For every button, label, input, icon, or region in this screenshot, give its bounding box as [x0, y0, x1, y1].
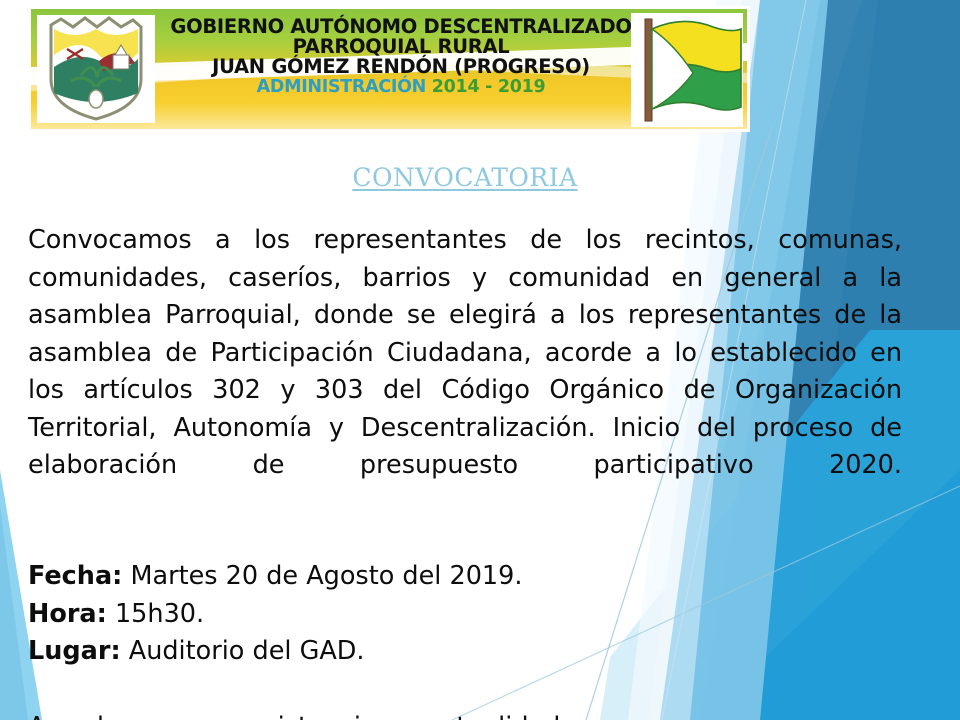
event-details: Fecha: Martes 20 de Agosto del 2019. Hor… — [28, 558, 902, 671]
page-title: CONVOCATORIA — [0, 163, 930, 192]
detail-value-hora: 15h30. — [115, 599, 204, 629]
detail-label-lugar: Lugar: — [28, 636, 121, 666]
banner-line-2: PARROQUIAL RURAL — [159, 37, 643, 57]
detail-label-hora: Hora: — [28, 599, 107, 629]
slide-canvas: GOBIERNO AUTÓNOMO DESCENTRALIZADO PARROQ… — [0, 0, 960, 720]
administration-years: 2014 - 2019 — [426, 77, 545, 97]
header-banner: GOBIERNO AUTÓNOMO DESCENTRALIZADO PARROQ… — [28, 6, 750, 132]
detail-label-fecha: Fecha: — [28, 561, 122, 591]
banner-line-1: GOBIERNO AUTÓNOMO DESCENTRALIZADO — [159, 17, 643, 37]
convocation-paragraph: Convocamos a los representantes de los r… — [28, 222, 902, 522]
banner-text-block: GOBIERNO AUTÓNOMO DESCENTRALIZADO PARROQ… — [159, 17, 643, 96]
detail-row-hora: Hora: 15h30. — [28, 596, 902, 634]
detail-value-lugar: Auditorio del GAD. — [129, 636, 365, 666]
detail-value-fecha: Martes 20 de Agosto del 2019. — [130, 561, 522, 591]
parish-flag-icon — [631, 13, 743, 127]
detail-row-lugar: Lugar: Auditorio del GAD. — [28, 633, 902, 671]
detail-row-fecha: Fecha: Martes 20 de Agosto del 2019. — [28, 558, 902, 596]
administration-word: ADMINISTRACIÓN — [257, 77, 426, 97]
banner-line-administration: ADMINISTRACIÓN 2014 - 2019 — [159, 79, 643, 97]
document-body: Convocamos a los representantes de los r… — [28, 222, 902, 720]
coat-of-arms-icon — [37, 15, 155, 123]
closing-line: Agradecemos su asistencia y puntualidad. — [28, 709, 902, 720]
banner-line-3: JUAN GÓMEZ RENDÓN (PROGRESO) — [159, 57, 643, 77]
bg-shape-left-triangle-2 — [0, 506, 28, 720]
